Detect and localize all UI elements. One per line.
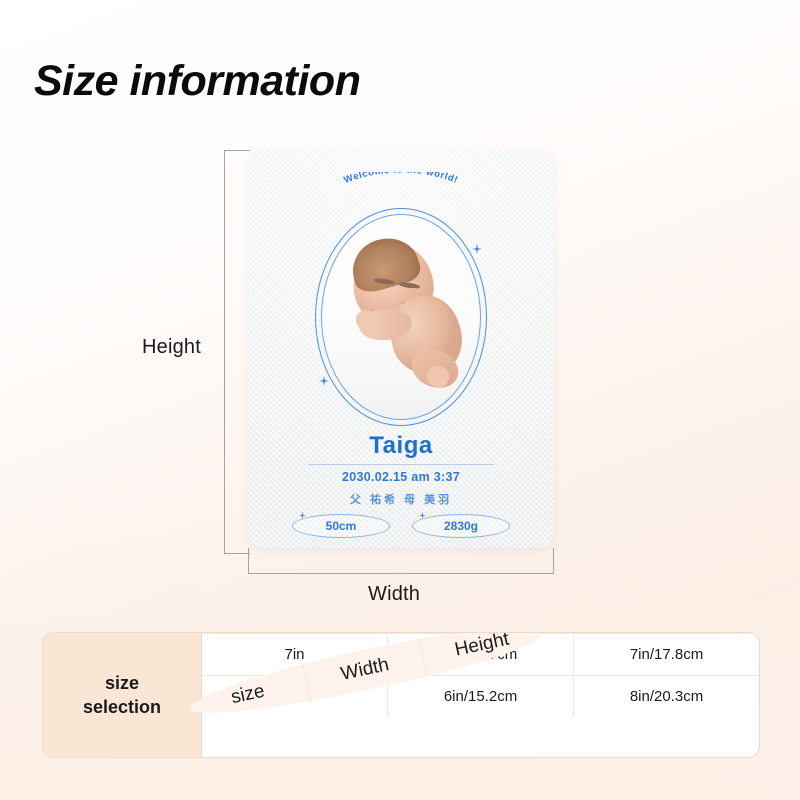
- page-root: Size information Height Width Welcome to…: [0, 0, 800, 800]
- width-bracket: [248, 548, 554, 574]
- page-title: Size information: [34, 57, 360, 106]
- welcome-text: Welcome to the world!: [342, 172, 459, 186]
- width-dimension-label: Width: [368, 583, 420, 606]
- size-selection-table: size selection size Width Height 7in 5in…: [42, 632, 760, 758]
- birth-datetime: 2030.02.15 am 3:37: [248, 470, 554, 484]
- weight-badge: 2830g: [412, 514, 510, 538]
- sparkle-icon-weight-badge: [419, 512, 426, 519]
- width-bracket-line: [248, 573, 554, 574]
- height-bracket-bottom-tick: [224, 553, 250, 554]
- length-badge-value: 50cm: [326, 519, 357, 533]
- oval-ring-inner: [321, 214, 481, 420]
- name-divider: [308, 464, 494, 465]
- baby-name: Taiga: [248, 432, 554, 460]
- sparkle-icon-length-badge: [299, 512, 306, 519]
- width-bracket-left-tick: [248, 548, 249, 574]
- row-0-height: 7in/17.8cm: [574, 634, 759, 675]
- parents-names: 父 祐希 母 美羽: [248, 491, 554, 507]
- size-selection-label-line1: size: [83, 671, 161, 695]
- oval-photo-frame: [315, 208, 487, 426]
- size-selection-label: size selection: [43, 633, 202, 757]
- row-1-height: 8in/20.3cm: [574, 676, 759, 717]
- length-badge: 50cm: [292, 514, 390, 538]
- height-bracket: [224, 150, 250, 554]
- height-bracket-top-tick: [224, 150, 250, 151]
- height-bracket-line: [224, 150, 225, 554]
- width-bracket-right-tick: [553, 548, 554, 574]
- size-table-grid: size Width Height 7in 5in/12.7cm 7in/17.…: [202, 633, 759, 757]
- measurement-badges: 50cm 2830g: [248, 514, 554, 538]
- row-1-width: 6in/15.2cm: [388, 676, 574, 717]
- height-dimension-label: Height: [142, 336, 201, 359]
- birth-announcement-card: Welcome to the world!: [248, 150, 554, 548]
- weight-badge-value: 2830g: [444, 519, 478, 533]
- size-selection-label-line2: selection: [83, 695, 161, 719]
